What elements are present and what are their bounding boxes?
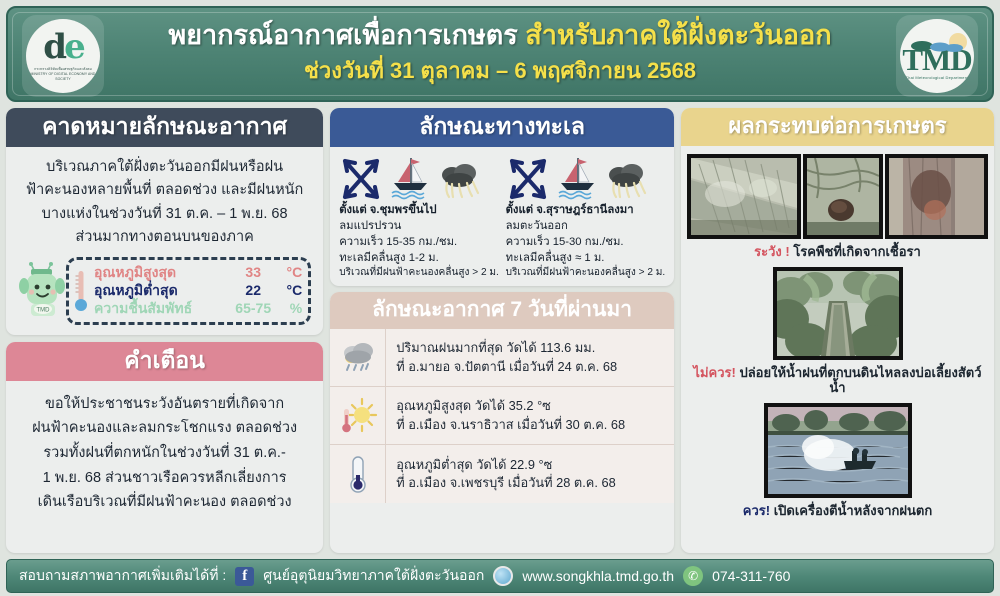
past-location-line: ที่ อ.เมือง จ.นราธิวาส เมื่อวันที่ 30 ต.…: [396, 416, 625, 435]
sea-zone-north: ตั้งแต่ จ.ชุมพรขึ้นไป ลมแปรปรวน ความเร็ว…: [336, 153, 502, 280]
sea-area-label: ตั้งแต่ จ.สุราษฎร์ธานีลงมา: [506, 202, 666, 218]
past-7-days-heading: ลักษณะอากาศ 7 วันที่ผ่านมา: [330, 292, 674, 329]
past-location-line: ที่ อ.มายอ จ.ปัตตานี เมื่อวันที่ 24 ต.ค.…: [396, 358, 617, 377]
photo-banana-canal: [773, 267, 903, 360]
sea-wind-name: ลมตะวันออก: [506, 218, 666, 234]
temperature-summary: TMD: [16, 257, 313, 327]
impact-caption-1-text: โรคพืชที่เกิดจากเชื้อรา: [793, 244, 921, 259]
photo-leaf-fungus: [687, 154, 801, 239]
sea-wave-height: ทะเลมีคลื่นสูง 1-2 ม.: [339, 250, 499, 266]
temp-row-humidity: ความชื้นสัมพัทธ์ 65-75 %: [94, 300, 302, 318]
title-date-range: ช่วงวันที่ 31 ตุลาคม – 6 พฤศจิกายน 2568: [168, 53, 831, 88]
thermometer-icon: [337, 453, 379, 495]
footer-facebook-name[interactable]: ศูนย์อุตุนิยมวิทยาภาคใต้ฝั่งตะวันออก: [263, 565, 484, 587]
photo-row-aerator: [687, 403, 988, 498]
temp-row-min: อุณหภูมิต่ำสุด 22 °C: [94, 282, 302, 300]
photo-pond-aerator: [764, 403, 912, 498]
thunderstorm-cloud-icon: [437, 155, 483, 201]
title-part-region: สำหรับภาคใต้ฝั่งตะวันออก: [525, 20, 831, 50]
impact-caption-3-text: เปิดเครื่องตีน้ำหลังจากฝนตก: [774, 503, 933, 518]
sea-area-label: ตั้งแต่ จ.ชุมพรขึ้นไป: [339, 202, 499, 218]
photo-row-fungal: [687, 154, 988, 239]
past-measure-line: ปริมาณฝนมากที่สุด วัดได้ 113.6 มม.: [396, 339, 617, 358]
footer-prefix: สอบถามสภาพอากาศเพิ่มเติมได้ที่ :: [19, 565, 226, 587]
page-footer: สอบถามสภาพอากาศเพิ่มเติมได้ที่ : f ศูนย์…: [6, 559, 994, 593]
impact-caption-3: ควร! เปิดเครื่องตีน้ำหลังจากฝนตก: [687, 503, 988, 519]
photo-trunk-fungus: [885, 154, 988, 239]
photo-banana-canal-image: [777, 271, 899, 356]
warning-heading: คำเตือน: [6, 342, 323, 381]
past-7-days-panel: ลักษณะอากาศ 7 วันที่ผ่านมา: [330, 292, 674, 553]
impact-caption-2-text: ปล่อยให้น้ำฝนที่ตกบนดินไหลลงบ่อเลี้ยงสัต…: [739, 365, 981, 396]
past-row: อุณหภูมิสูงสุด วัดได้ 35.2 °ซ ที่ อ.เมือ…: [330, 387, 674, 445]
warning-panel: คำเตือน ขอให้ประชาชนระวังอันตรายที่เกิดจ…: [6, 342, 323, 553]
impact-caption-2-tag: ไม่ควร!: [693, 365, 739, 380]
impact-caption-1-tag: ระวัง !: [754, 244, 793, 259]
sailboat-icon: [554, 155, 600, 201]
impact-caption-1: ระวัง ! โรคพืชที่เกิดจากเชื้อรา: [687, 244, 988, 260]
thunderstorm-cloud-icon: [604, 155, 650, 201]
forecast-heading: คาดหมายลักษณะอากาศ: [6, 108, 323, 147]
past-row: ปริมาณฝนมากที่สุด วัดได้ 113.6 มม. ที่ อ…: [330, 329, 674, 387]
page-title: พยากรณ์อากาศเพื่อการเกษตร สำหรับภาคใต้ฝั…: [78, 20, 921, 88]
sea-wind-speed: ความเร็ว 15-30 กม./ชม.: [506, 234, 666, 250]
sea-wind-speed: ความเร็ว 15-35 กม./ชม.: [339, 234, 499, 250]
photo-fruit-fungus-image: [807, 158, 879, 235]
past-location-line: ที่ อ.เมือง จ.เพชรบุรี เมื่อวันที่ 28 ต.…: [396, 474, 615, 493]
photo-trunk-fungus-image: [889, 158, 984, 235]
impact-heading: ผลกระทบต่อการเกษตร: [681, 108, 994, 146]
column-left: คาดหมายลักษณะอากาศ บริเวณภาคใต้ฝั่งตะวัน…: [6, 108, 323, 553]
past-measure-line: อุณหภูมิสูงสุด วัดได้ 35.2 °ซ: [396, 397, 625, 416]
past-measure-line: อุณหภูมิต่ำสุด วัดได้ 22.9 °ซ: [396, 456, 615, 475]
photo-row-drainage: [687, 267, 988, 360]
sea-storm-wave: บริเวณที่มีฝนฟ้าคะนองคลื่นสูง > 2 ม.: [339, 266, 499, 280]
title-part-forecast: พยากรณ์อากาศเพื่อการเกษตร: [168, 20, 525, 50]
footer-website[interactable]: www.songkhla.tmd.go.th: [522, 568, 674, 584]
warning-text: ขอให้ประชาชนระวังอันตรายที่เกิดจาก ฝนฟ้า…: [16, 392, 313, 515]
sun-thermometer-icon: [337, 395, 379, 437]
temperature-box: อุณหภูมิสูงสุด 33 °C อุณหภูมิต่ำสุด 22 °…: [66, 257, 311, 325]
rain-cloud-icon: [337, 337, 379, 379]
variable-wind-icon: [339, 157, 383, 201]
sea-wave-height: ทะเลมีคลื่นสูง ≈ 1 ม.: [506, 250, 666, 266]
temp-row-max: อุณหภูมิสูงสุด 33 °C: [94, 264, 302, 282]
globe-icon[interactable]: [493, 566, 513, 586]
sea-panel: ลักษณะทางทะเล: [330, 108, 674, 286]
poster-body: คาดหมายลักษณะอากาศ บริเวณภาคใต้ฝั่งตะวัน…: [6, 108, 994, 553]
infographic-poster: de กระทรวงดิจิทัลเพื่อเศรษฐกิจและสังคม M…: [0, 0, 1000, 596]
photo-leaf-fungus-image: [691, 158, 797, 235]
impact-caption-3-tag: ควร!: [743, 503, 774, 518]
impact-caption-2: ไม่ควร! ปล่อยให้น้ำฝนที่ตกบนดินไหลลงบ่อเ…: [687, 365, 988, 396]
variable-wind-icon: [506, 157, 550, 201]
forecast-text: บริเวณภาคใต้ฝั่งตะวันออกมีฝนหรือฝน ฟ้าคะ…: [16, 156, 313, 250]
sea-storm-wave: บริเวณที่มีฝนฟ้าคะนองคลื่นสูง > 2 ม.: [506, 266, 666, 280]
sea-zone-south: ตั้งแต่ จ.สุราษฎร์ธานีลงมา ลมตะวันออก คว…: [503, 153, 669, 280]
mdes-logo-mark: de: [43, 30, 82, 64]
tmd-mascot-icon: TMD: [18, 262, 72, 320]
photo-pond-aerator-image: [768, 407, 908, 494]
sea-heading: ลักษณะทางทะเล: [330, 108, 674, 147]
footer-phone[interactable]: 074-311-760: [712, 568, 790, 584]
impact-panel: ผลกระทบต่อการเกษตร: [681, 108, 994, 553]
past-row: อุณหภูมิต่ำสุด วัดได้ 22.9 °ซ ที่ อ.เมือ…: [330, 445, 674, 503]
facebook-icon[interactable]: f: [235, 567, 254, 586]
page-header: de กระทรวงดิจิทัลเพื่อเศรษฐกิจและสังคม M…: [6, 6, 994, 102]
photo-fruit-fungus: [803, 154, 883, 239]
column-middle: ลักษณะทางทะเล: [330, 108, 674, 553]
thermometer-small-icon: [73, 269, 89, 313]
sailboat-icon: [387, 155, 433, 201]
forecast-panel: คาดหมายลักษณะอากาศ บริเวณภาคใต้ฝั่งตะวัน…: [6, 108, 323, 335]
sea-wind-name: ลมแปรปรวน: [339, 218, 499, 234]
svg-text:TMD: TMD: [37, 307, 51, 313]
phone-icon[interactable]: ✆: [683, 566, 703, 586]
column-right: ผลกระทบต่อการเกษตร: [681, 108, 994, 553]
